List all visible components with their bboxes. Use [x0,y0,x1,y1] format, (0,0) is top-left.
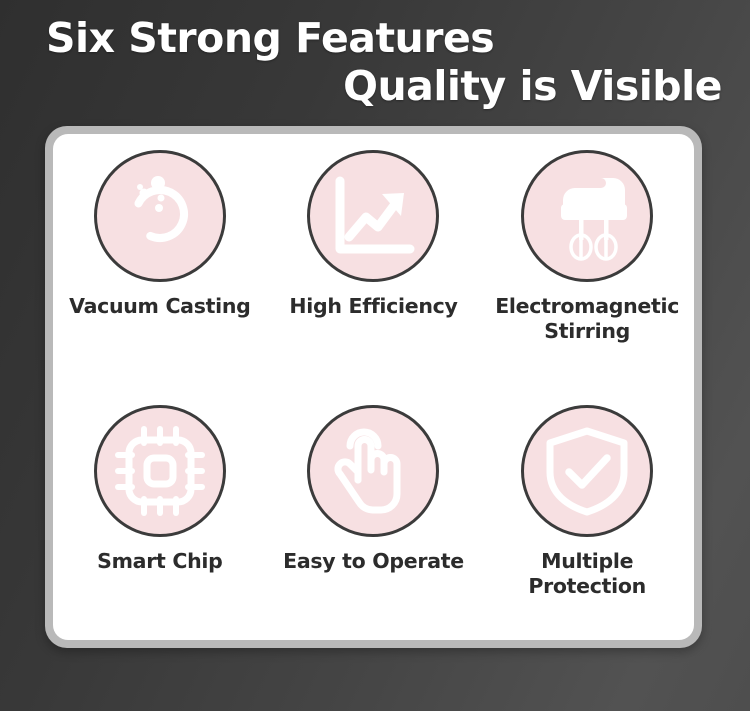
feature-item-easy-to-operate[interactable]: Easy to Operate [267,387,481,640]
shield-check-icon [542,426,632,516]
icon-circle [307,405,439,537]
cpu-chip-icon [114,425,206,517]
tap-hand-icon [328,426,418,516]
icon-circle [94,405,226,537]
headline-block: Six Strong Features Quality is Visible [0,0,750,110]
feature-item-high-efficiency[interactable]: High Efficiency [267,134,481,387]
icon-circle [94,150,226,282]
feature-item-electromagnetic-stirring[interactable]: Electromagnetic Stirring [480,134,694,387]
feature-item-multiple-protection[interactable]: Multiple Protection [480,387,694,640]
feature-item-vacuum-casting[interactable]: Vacuum Casting [53,134,267,387]
feature-label: High Efficiency [289,294,457,319]
feature-label: Electromagnetic Stirring [487,294,687,344]
feature-poster: Six Strong Features Quality is Visible [0,0,750,711]
growth-chart-arrow-icon [330,173,416,259]
feature-label: Easy to Operate [283,549,464,574]
icon-circle [521,150,653,282]
feature-label: Smart Chip [97,549,222,574]
icon-circle [307,150,439,282]
hand-mixer-icon [541,170,633,262]
vacuum-bubbles-icon [114,170,206,262]
headline-line-2: Quality is Visible [46,62,724,110]
feature-item-smart-chip[interactable]: Smart Chip [53,387,267,640]
feature-label: Multiple Protection [487,549,687,599]
headline-line-1: Six Strong Features [46,14,724,62]
icon-circle [521,405,653,537]
feature-grid: Vacuum Casting High Efficiency [53,134,694,640]
feature-label: Vacuum Casting [69,294,250,319]
